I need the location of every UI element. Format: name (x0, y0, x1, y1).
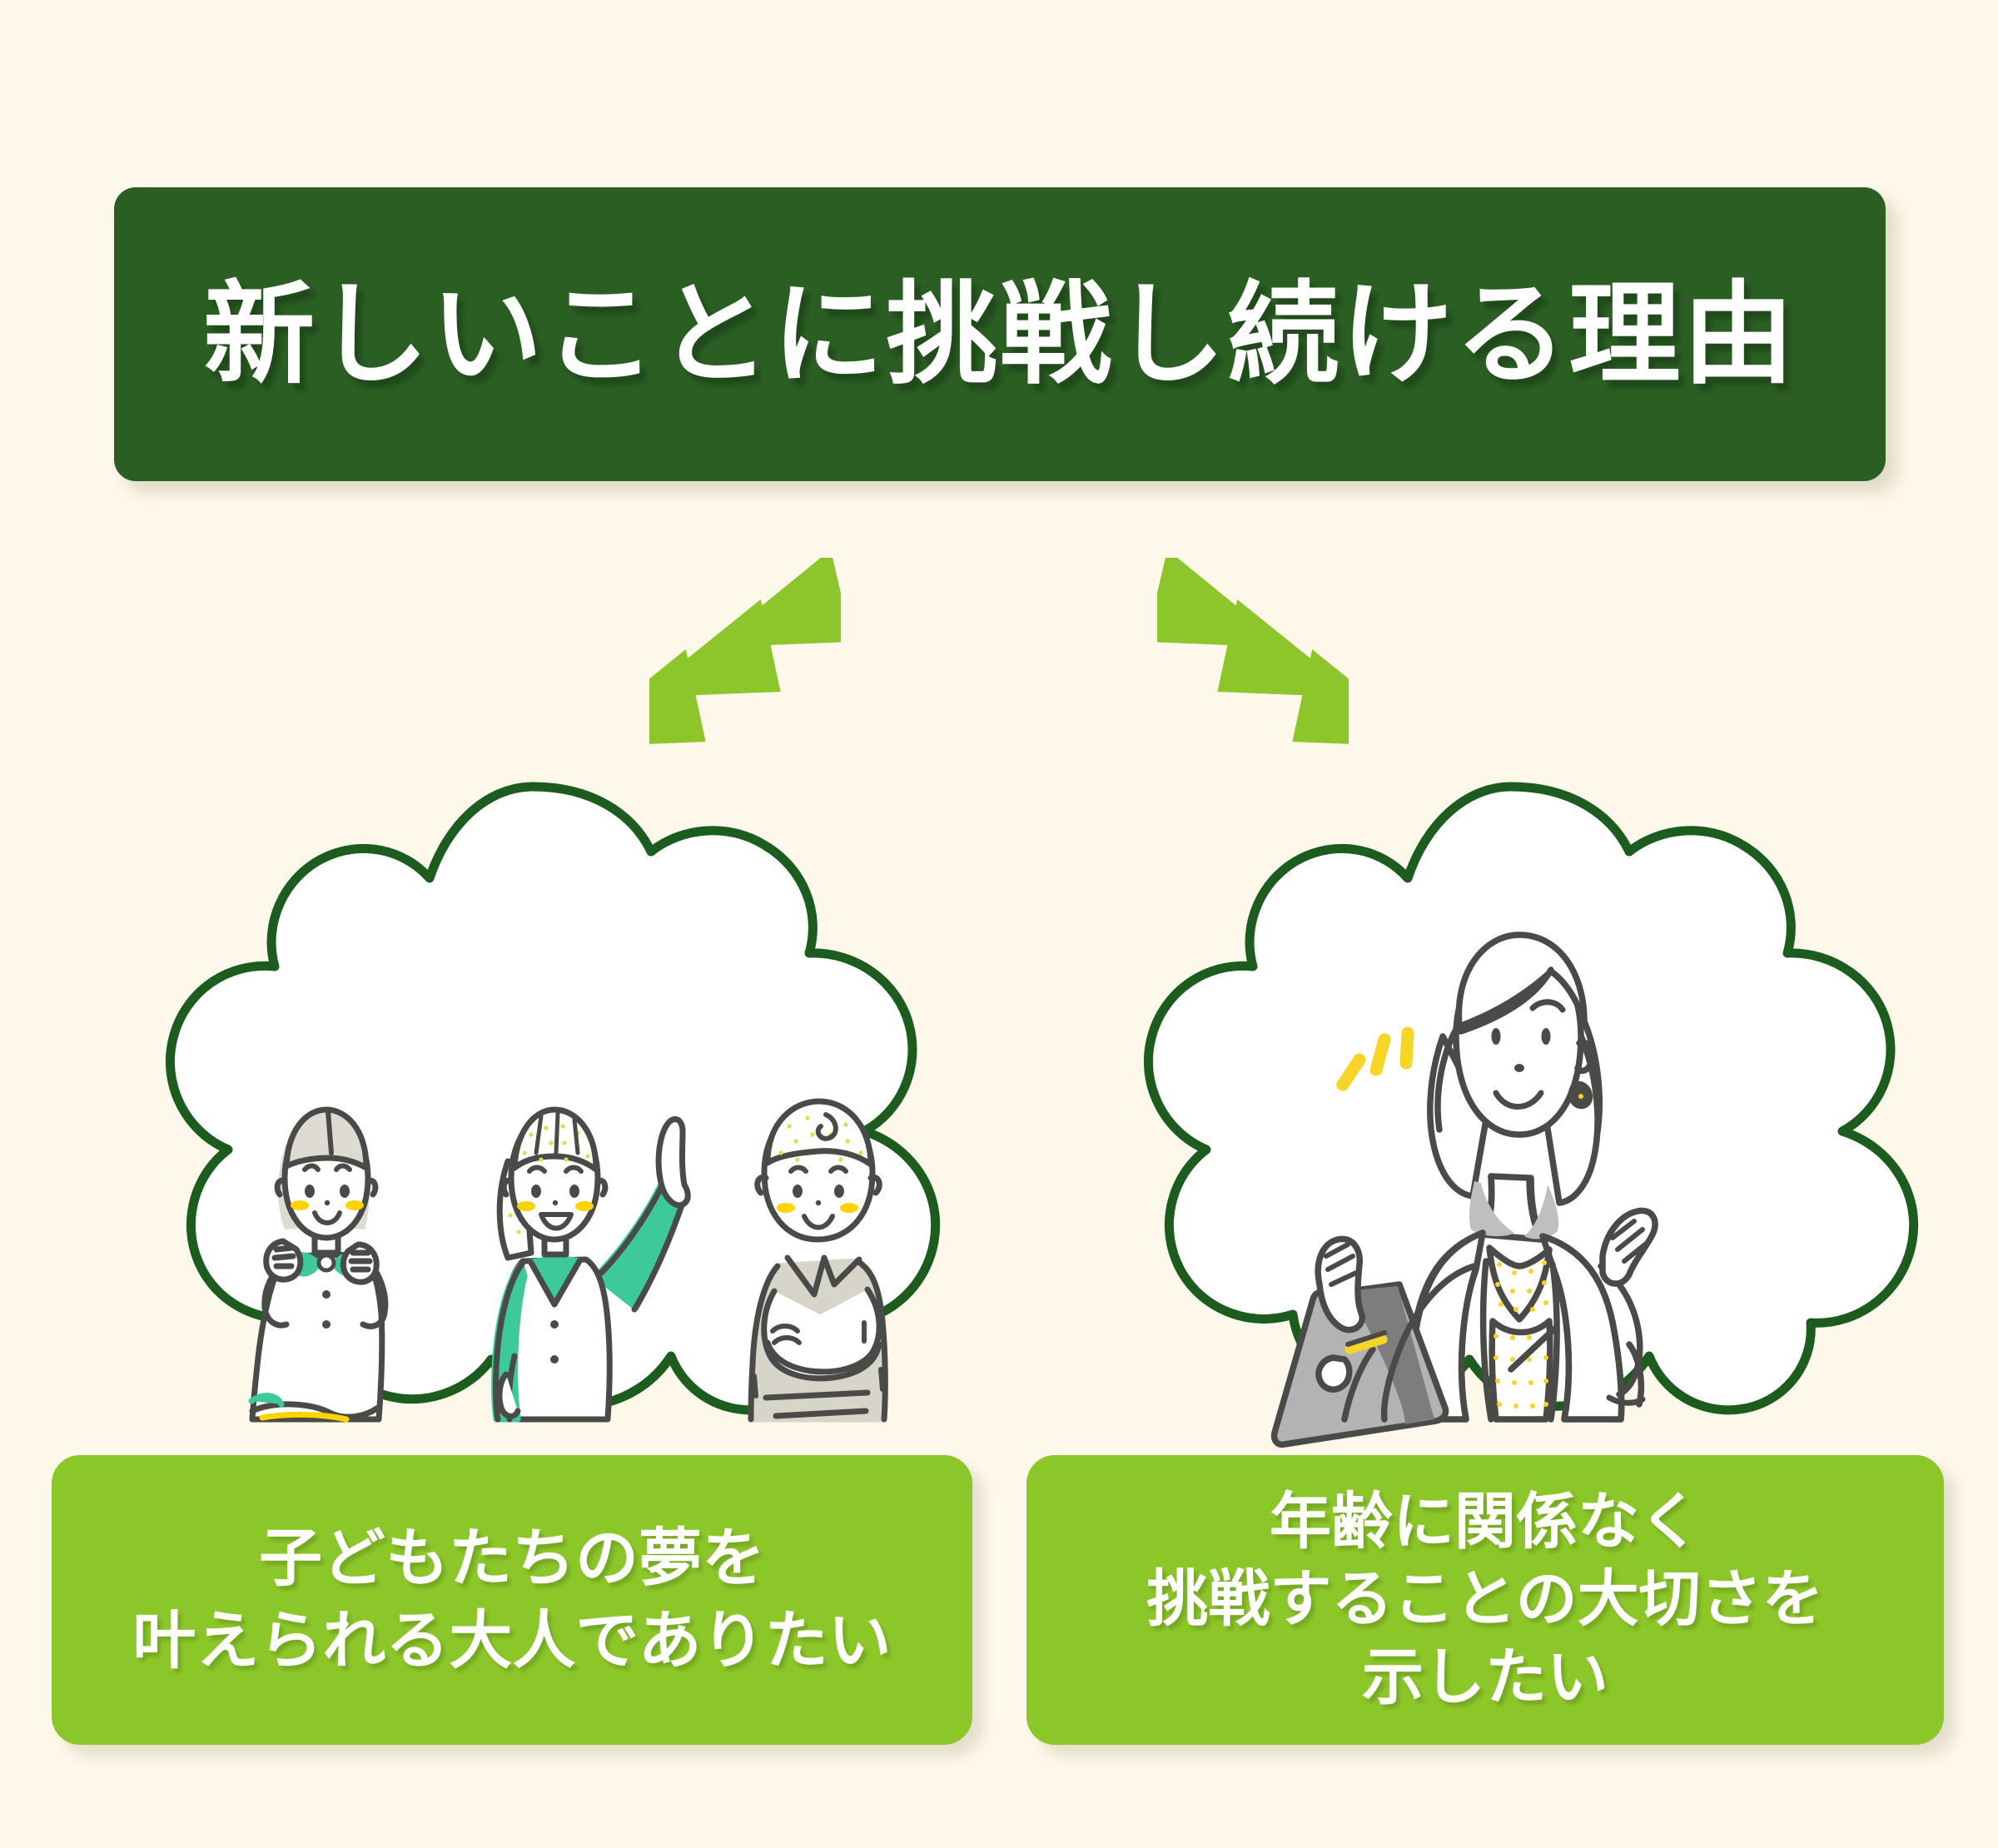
caption-left-line-2: 叶えられる大人でありたい (132, 1600, 891, 1682)
caption-box-left: 子どもたちの夢を 叶えられる大人でありたい (52, 1455, 972, 1745)
page-title-banner: 新しいことに挑戦し続ける理由 (114, 187, 1886, 481)
caption-box-right: 年齢に関係なく 挑戦することの大切さを 示したい (1026, 1455, 1944, 1745)
poster-canvas: 新しいことに挑戦し続ける理由 (0, 0, 1998, 1848)
caption-right-line-3: 示したい (1146, 1639, 1823, 1716)
thought-cloud-left (92, 762, 974, 1419)
emphasis-triangle-group-right-icon (1157, 558, 1349, 749)
emphasis-triangle-group-left-icon (649, 558, 841, 749)
caption-text-left: 子どもたちの夢を 叶えられる大人でありたい (132, 1518, 891, 1682)
caption-right-line-2: 挑戦することの大切さを (1146, 1561, 1823, 1638)
caption-left-line-1: 子どもたちの夢を (132, 1518, 891, 1600)
caption-text-right: 年齢に関係なく 挑戦することの大切さを 示したい (1146, 1483, 1823, 1716)
page-title: 新しいことに挑戦し続ける理由 (203, 279, 1797, 390)
thought-cloud-right (1070, 762, 1952, 1419)
caption-right-line-1: 年齢に関係なく (1146, 1483, 1823, 1561)
